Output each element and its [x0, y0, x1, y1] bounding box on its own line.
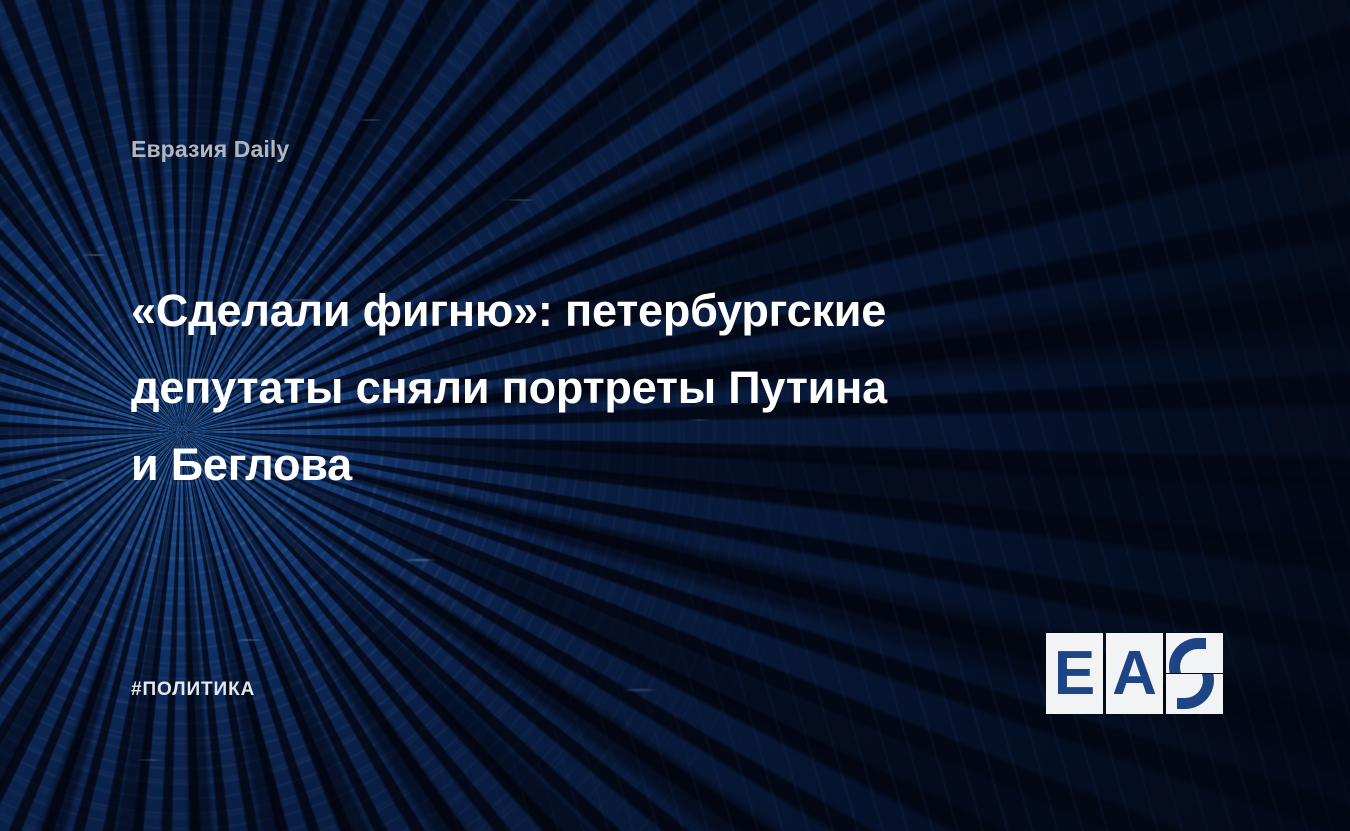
- brand-title: Евразия Daily: [131, 136, 289, 163]
- headline-line-3: и Беглова: [131, 426, 1071, 503]
- headline-line-2: депутаты сняли портреты Путина: [131, 349, 1071, 426]
- headline: «Сделали фигню»: петербургские депутаты …: [131, 272, 1071, 503]
- ead-logo: E A: [1046, 633, 1223, 714]
- logo-letter-d-upper-half: [1166, 633, 1223, 673]
- logo-letter-d-lower-half: [1166, 674, 1223, 714]
- logo-letter-a: A: [1106, 633, 1163, 714]
- logo-tile-e: E: [1046, 633, 1103, 714]
- card-content: Евразия Daily «Сделали фигню»: петербург…: [0, 0, 1350, 831]
- logo-tile-d: [1166, 633, 1223, 714]
- headline-line-1: «Сделали фигню»: петербургские: [131, 272, 1071, 349]
- logo-tile-a: A: [1106, 633, 1163, 714]
- category-hashtag: #ПОЛИТИКА: [131, 679, 255, 701]
- logo-letter-e: E: [1046, 633, 1103, 714]
- news-share-card: Евразия Daily «Сделали фигню»: петербург…: [0, 0, 1350, 831]
